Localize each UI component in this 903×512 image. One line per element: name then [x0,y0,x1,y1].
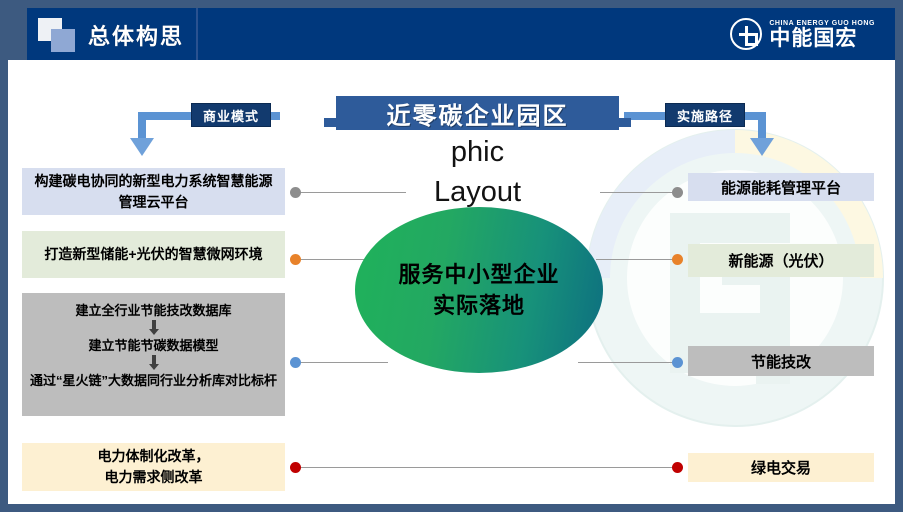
label-implementation-path[interactable]: 实施路径 [665,103,745,127]
connector-dot-r1-gray [672,187,683,198]
header-square-blue-icon [51,29,75,52]
logo-chinese-name: 中能国宏 [769,28,875,50]
left-card-power-reform-line1: 电力体制化改革， [98,446,210,467]
right-card-energy-management-platform-text: 能源能耗管理平台 [721,177,841,198]
connector-line-r3 [578,362,682,363]
overlay-placeholder-text: phic Layout [336,132,619,212]
connector-line-l3 [296,362,388,363]
left-card-step-3: 通过“星火链”大数据同行业分析库对比标杆 [30,371,277,390]
label-business-model[interactable]: 商业模式 [191,103,271,127]
connector-dot-l2-orange [290,254,301,265]
diagram-title-banner: 近零碳企业园区 [336,96,619,130]
connector-line-r1 [600,192,682,193]
right-card-energy-management-platform[interactable]: 能源能耗管理平台 [688,173,874,201]
center-goal-line2: 实际落地 [433,290,525,321]
page-title: 总体构思 [88,19,184,51]
center-goal-line1: 服务中小型企业 [398,259,559,290]
right-card-energy-saving-retrofit[interactable]: 节能技改 [688,346,874,376]
slide-header: 总体构思 CHINA ENERGY GUO HONG 中能国宏 [8,8,895,60]
connector-dot-l1-gray [290,187,301,198]
connector-line-l1 [296,192,406,193]
left-card-smart-energy-platform-text: 构建碳电协同的新型电力系统智慧能源管理云平台 [30,171,277,213]
logo-text-block: CHINA ENERGY GUO HONG 中能国宏 [769,19,875,50]
company-logo: CHINA ENERGY GUO HONG 中能国宏 [730,16,875,52]
connector-dot-r2-orange [672,254,683,265]
connector-dot-r4-red [672,462,683,473]
overlay-placeholder-line1: phic [336,132,619,172]
left-card-step-2: 建立节能节碳数据模型 [30,336,277,355]
connector-dot-l3-blue [290,357,301,368]
label-business-model-text: 商业模式 [203,106,259,125]
connector-line-r2 [596,259,682,260]
connector-line-l4 [296,467,676,468]
right-card-new-energy-pv-text: 新能源（光伏） [728,250,833,271]
slide-canvas: 总体构思 CHINA ENERGY GUO HONG 中能国宏 商业模式 实施路… [0,0,903,512]
diagram-title-text: 近零碳企业园区 [387,96,569,131]
header-left-accent [8,8,27,60]
right-card-green-power-trading-text: 绿电交易 [751,457,811,478]
logo-circle-icon [730,18,762,50]
left-card-power-reform[interactable]: 电力体制化改革， 电力需求侧改革 [22,443,285,491]
left-card-storage-pv-microgrid-text: 打造新型储能+光伏的智慧微网环境 [44,244,262,265]
left-card-energy-database[interactable]: 建立全行业节能技改数据库 建立节能节碳数据模型 通过“星火链”大数据同行业分析库… [22,293,285,416]
right-card-green-power-trading[interactable]: 绿电交易 [688,453,874,482]
left-card-power-reform-line2: 电力需求侧改革 [105,467,203,488]
label-implementation-path-text: 实施路径 [677,106,733,125]
right-card-new-energy-pv[interactable]: 新能源（光伏） [688,244,874,277]
connector-dot-l4-red [290,462,301,473]
header-divider [196,8,198,60]
right-card-energy-saving-retrofit-text: 节能技改 [751,351,811,372]
center-goal-ellipse: 服务中小型企业 实际落地 [355,207,603,373]
left-card-storage-pv-microgrid[interactable]: 打造新型储能+光伏的智慧微网环境 [22,231,285,278]
left-card-smart-energy-platform[interactable]: 构建碳电协同的新型电力系统智慧能源管理云平台 [22,168,285,215]
left-card-step-1: 建立全行业节能技改数据库 [30,301,277,320]
connector-dot-r3-blue [672,357,683,368]
